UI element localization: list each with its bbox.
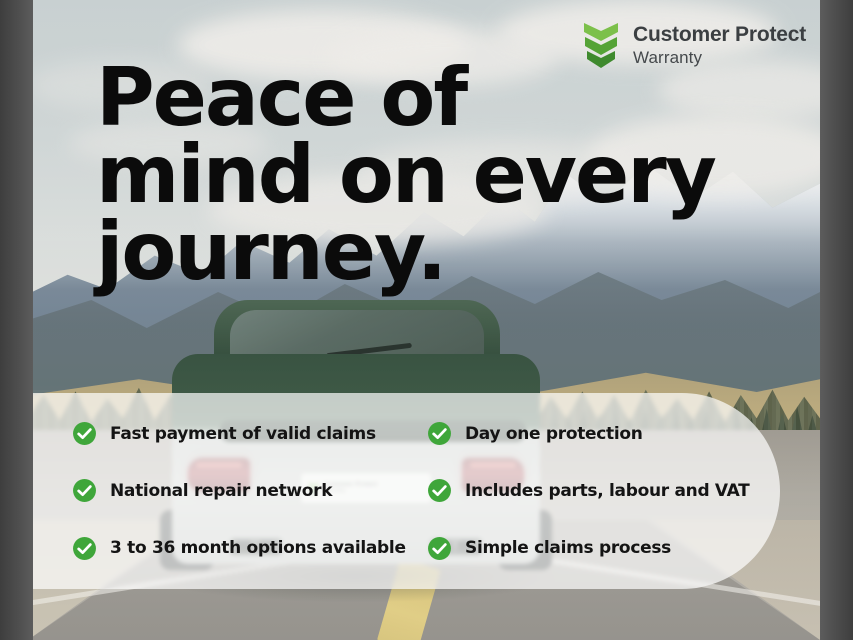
brand-logo: Customer Protect Warranty [582, 20, 806, 70]
feature-item: Includes parts, labour and VAT [427, 462, 788, 519]
check-circle-icon [427, 478, 452, 503]
feature-label: Day one protection [465, 424, 643, 444]
page-title: Peace of mind on every journey. [96, 60, 715, 290]
feature-item: Fast payment of valid claims [72, 405, 427, 462]
brand-text: Customer Protect Warranty [633, 24, 806, 66]
feature-item: Day one protection [427, 405, 788, 462]
check-circle-icon [427, 421, 452, 446]
feature-label: Fast payment of valid claims [110, 424, 376, 444]
warranty-banner: Customer Protect Warranty Peace of mind … [0, 0, 853, 640]
left-edge-bar [0, 0, 33, 640]
feature-item: National repair network [72, 462, 427, 519]
feature-label: Simple claims process [465, 538, 671, 558]
check-circle-icon [72, 421, 97, 446]
brand-title: Customer Protect [633, 24, 806, 45]
shield-chevrons-icon [582, 20, 620, 70]
feature-label: National repair network [110, 481, 332, 501]
right-edge-bar [820, 0, 853, 640]
feature-label: 3 to 36 month options available [110, 538, 406, 558]
check-circle-icon [427, 536, 452, 561]
features-list: Fast payment of valid claims Day one pro… [28, 393, 788, 589]
check-circle-icon [72, 478, 97, 503]
feature-label: Includes parts, labour and VAT [465, 481, 749, 501]
feature-item: 3 to 36 month options available [72, 520, 427, 577]
feature-item: Simple claims process [427, 520, 788, 577]
check-circle-icon [72, 536, 97, 561]
brand-subtitle: Warranty [633, 49, 806, 66]
